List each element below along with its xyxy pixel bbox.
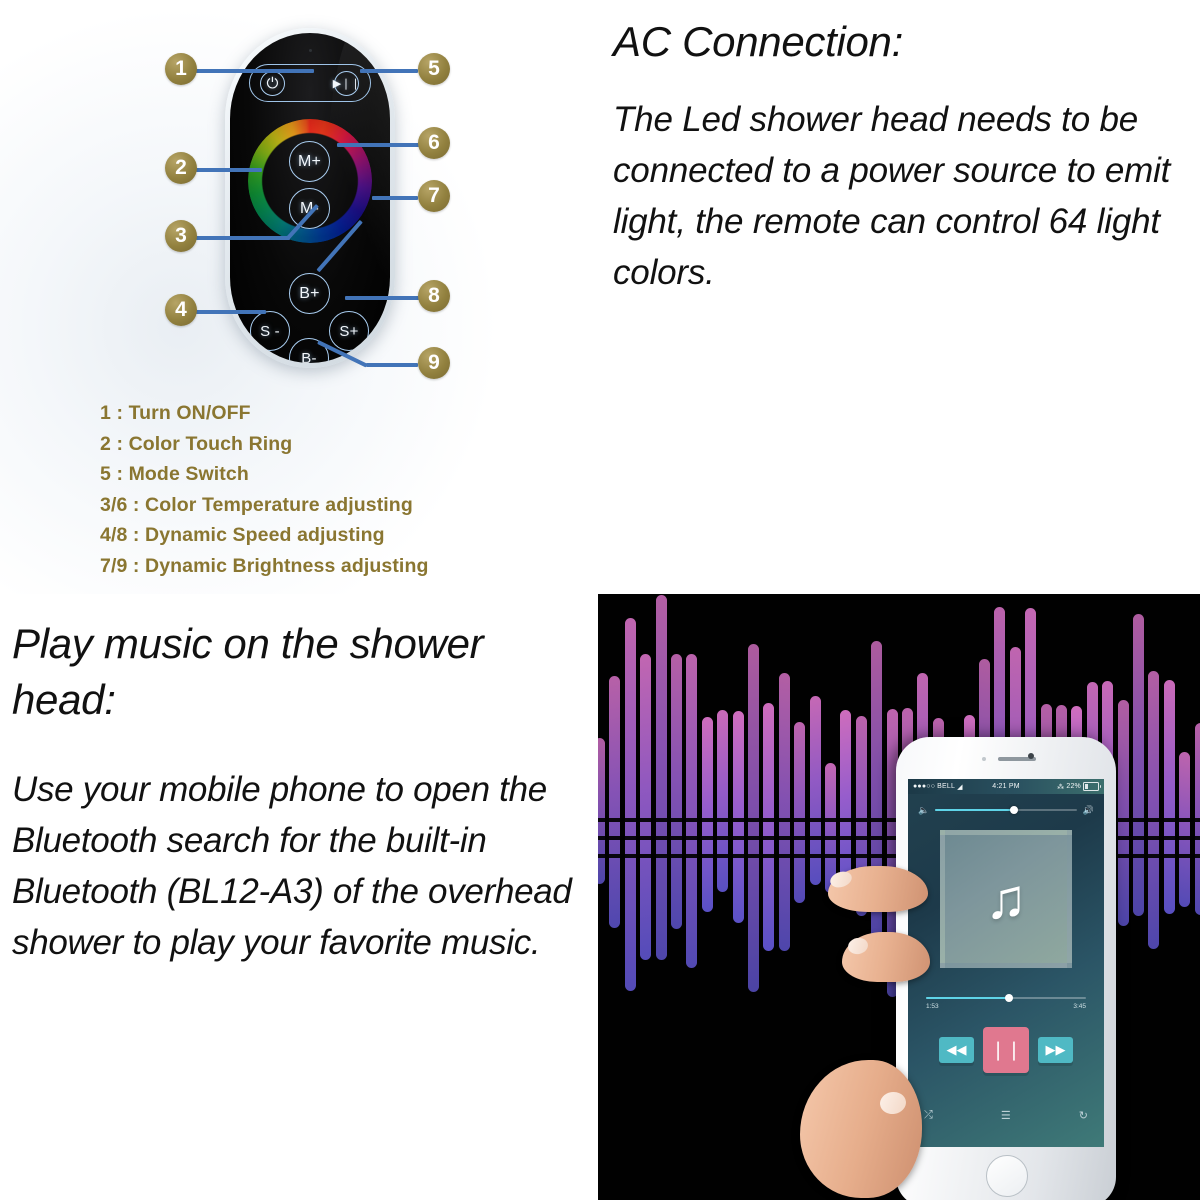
previous-button[interactable]: ◀◀ [939,1037,974,1063]
remote-legend-list: 1 : Turn ON/OFF 2 : Color Touch Ring 5 :… [100,398,428,581]
volume-slider[interactable]: 🔈 🔊 [918,803,1094,817]
callout-5: 5 [418,53,450,85]
bluetooth-icon: ⁂ [1057,783,1064,791]
callout-2: 2 [165,152,197,184]
m-plus-button[interactable]: M+ [289,141,330,182]
callout-8-number: 8 [428,284,440,308]
infographic-page: ⏻ ▶❘❘ M+ M- B+ S - [0,0,1200,1200]
callout-6: 6 [418,127,450,159]
status-bar-right: ⁂ 22% [1057,782,1099,791]
volume-fill [935,809,1014,811]
s-minus-button[interactable]: S - [250,311,290,351]
volume-up-icon[interactable]: 🔊 [1083,805,1094,816]
leader-line-5 [360,69,418,73]
thumb [800,1060,922,1198]
phone-screen: ●●●○○ BELL ◢ 4:21 PM ⁂ 22% 🔈 [908,779,1104,1147]
volume-down-icon[interactable]: 🔈 [918,805,929,816]
equalizer-bar [779,673,790,951]
previous-icon: ◀◀ [947,1042,967,1058]
play-music-title: Play music on the shower head: [12,616,572,728]
total-time: 3:45 [1073,1003,1086,1010]
callout-9: 9 [418,347,450,379]
volume-knob[interactable] [1010,806,1018,814]
power-icon: ⏻ [266,75,278,92]
progress-fill [926,997,1009,999]
phone-camera [1028,753,1034,759]
equalizer-bar [1148,671,1159,950]
volume-track[interactable] [935,809,1077,811]
leader-line-8 [345,296,419,300]
equalizer-bar [625,618,636,991]
leader-line-4 [196,310,266,314]
callout-2-number: 2 [175,156,187,180]
leader-line-2 [196,168,262,172]
callout-6-number: 6 [428,131,440,155]
phone-sensor [982,757,986,761]
s-plus-label: S+ [339,323,358,340]
battery-icon [1083,782,1099,791]
callout-7-number: 7 [428,184,440,208]
leader-line-1 [196,69,314,73]
ac-connection-body: The Led shower head needs to be connecte… [613,94,1200,298]
callout-1-number: 1 [175,57,187,81]
play-music-body: Use your mobile phone to open the Blueto… [12,764,604,968]
equalizer-bar [1133,614,1144,916]
player-bottom-bar: ⤮ ☰ ↻ [924,1109,1088,1122]
hand-holding-phone [810,854,928,1200]
callout-7: 7 [418,180,450,212]
legend-item-2: 2 : Color Touch Ring [100,429,428,460]
equalizer-bar [640,654,651,960]
callout-3: 3 [165,220,197,252]
next-button[interactable]: ▶▶ [1038,1037,1073,1063]
pause-button[interactable]: ❘❘ [983,1027,1029,1073]
leader-line-6 [337,143,419,147]
transport-controls: ◀◀ ❘❘ ▶▶ [908,1027,1104,1073]
equalizer-bar [686,654,697,968]
progress-times: 1:53 3:45 [926,1003,1086,1010]
callout-1: 1 [165,53,197,85]
home-button[interactable] [986,1155,1028,1197]
m-plus-label: M+ [298,153,321,171]
equalizer-bar [656,595,667,960]
callout-4: 4 [165,294,197,326]
equalizer-bar [794,722,805,903]
playback-progress[interactable]: 1:53 3:45 [926,997,1086,1010]
leader-line-3 [196,236,290,240]
status-bar: ●●●○○ BELL ◢ 4:21 PM ⁂ 22% [908,779,1104,794]
leader-line-7 [372,196,418,200]
s-minus-label: S - [260,323,280,340]
leader-line-9 [366,363,418,367]
equalizer-bar [717,710,728,891]
progress-knob[interactable] [1005,994,1013,1002]
equalizer-bar [598,738,605,885]
ac-connection-panel: AC Connection: The Led shower head needs… [598,0,1200,594]
legend-item-1: 1 : Turn ON/OFF [100,398,428,429]
legend-item-6: 7/9 : Dynamic Brightness adjusting [100,551,428,582]
m-minus-button[interactable]: M- [289,188,330,229]
play-music-panel: Play music on the shower head: Use your … [0,594,598,1200]
equalizer-bar [702,717,713,912]
equalizer-bar [1118,700,1129,926]
smartphone: ●●●○○ BELL ◢ 4:21 PM ⁂ 22% 🔈 [896,737,1116,1200]
callout-8: 8 [418,280,450,312]
b-minus-label: B- [301,350,316,364]
pause-icon: ❘❘ [990,1039,1022,1062]
b-plus-button[interactable]: B+ [289,273,330,314]
play-pause-icon: ▶❘❘ [333,77,361,90]
repeat-icon[interactable]: ↻ [1079,1109,1088,1122]
power-button[interactable]: ⏻ [260,71,285,96]
music-note-icon: ♫ [985,871,1027,927]
remote-control-panel: ⏻ ▶❘❘ M+ M- B+ S - [0,0,598,594]
remote-device: ⏻ ▶❘❘ M+ M- B+ S - [225,28,395,368]
legend-item-3: 5 : Mode Switch [100,459,428,490]
equalizer-bar [609,676,620,928]
callout-4-number: 4 [175,298,187,322]
legend-item-5: 4/8 : Dynamic Speed adjusting [100,520,428,551]
ac-connection-title: AC Connection: [613,18,903,66]
legend-item-4: 3/6 : Color Temperature adjusting [100,490,428,521]
b-plus-label: B+ [299,285,319,303]
equalizer-bar [1179,752,1190,907]
equalizer-bar [763,703,774,951]
music-photo-panel: ●●●○○ BELL ◢ 4:21 PM ⁂ 22% 🔈 [598,594,1200,1200]
callout-9-number: 9 [428,351,440,375]
equalizer-bar [671,654,682,928]
playlist-icon[interactable]: ☰ [1001,1109,1011,1122]
progress-track[interactable] [926,997,1086,999]
callout-3-number: 3 [175,224,187,248]
s-plus-button[interactable]: S+ [329,311,369,351]
play-pause-button[interactable]: ▶❘❘ [334,71,359,96]
battery-percent-label: 22% [1066,783,1081,790]
callout-5-number: 5 [428,57,440,81]
remote-indicator-dot [309,49,312,52]
next-icon: ▶▶ [1046,1042,1066,1058]
album-art: ♫ [940,830,1072,968]
equalizer-bar [1164,680,1175,914]
